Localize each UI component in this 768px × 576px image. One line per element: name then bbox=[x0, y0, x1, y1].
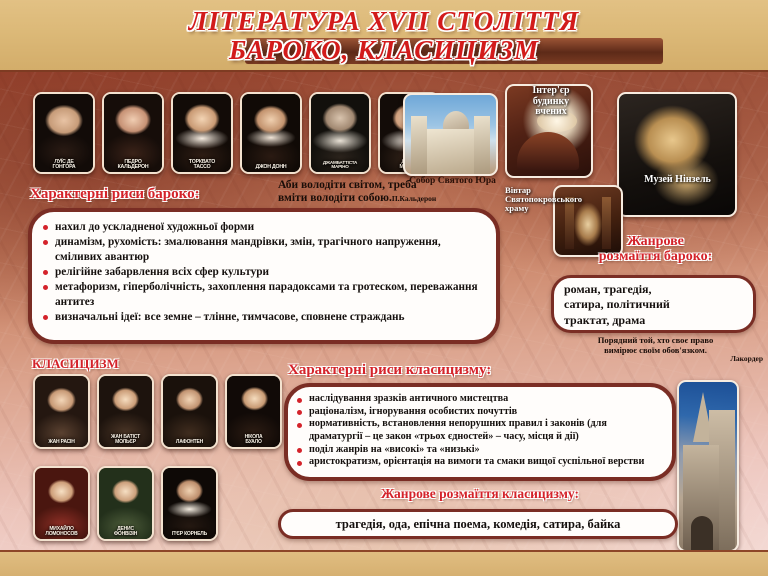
list-item: нормативність, встановлення непорушних п… bbox=[296, 418, 662, 443]
box-classicism-genres: трагедія, ода, епічна поема, комедія, са… bbox=[278, 509, 678, 539]
portrait-denis-fonvizin[interactable]: ДЕНИСФОНВІЗІН bbox=[97, 466, 154, 541]
portrait-label: ДЖАМБАТТІСТАМАРІНО bbox=[311, 161, 369, 170]
cathedral-tower-left bbox=[411, 116, 427, 174]
box-baroque-genres: роман, трагедія, сатира, політичний трак… bbox=[551, 275, 756, 333]
quote-attribution: Лакордер bbox=[548, 355, 763, 363]
list-item: визначальні ідеї: все земне – тлінне, ти… bbox=[42, 310, 484, 325]
classicism-features-list: наслідування зразків античного мистецтва… bbox=[296, 393, 662, 469]
portrait-image bbox=[35, 376, 88, 447]
portrait-label: НІКОЛАБУАЛО bbox=[227, 435, 280, 445]
portrait-lafontaine[interactable]: ЛАФОНТЕН bbox=[161, 374, 218, 449]
list-item: раціоналізм, ігнорування особистих почут… bbox=[296, 406, 662, 419]
portrait-label: П'ЄР КОРНЕЛЬ bbox=[163, 532, 216, 537]
portrait-image bbox=[163, 468, 216, 539]
portrait-jean-racine[interactable]: ЖАН РАСІН bbox=[33, 374, 90, 449]
baroque-features-list: нахил до ускладненої художньої форми дин… bbox=[42, 220, 484, 325]
heading-classicism-features: Характерні риси класицизму: bbox=[288, 362, 491, 378]
photo-cathedral-saint-yura[interactable] bbox=[403, 93, 498, 176]
quote-calderon: Аби володіти світом, треба вміти володіт… bbox=[278, 179, 490, 205]
portrait-label: ТОРКВАТОТАССО bbox=[173, 160, 231, 170]
baroque-genres-line3: трактат, драма bbox=[564, 313, 743, 328]
portrait-label: ЛАФОНТЕН bbox=[163, 440, 216, 445]
portrait-pierre-corneille[interactable]: П'ЄР КОРНЕЛЬ bbox=[161, 466, 218, 541]
portrait-pedro-calderon[interactable]: ПЕДРОКАЛЬДЕРОН bbox=[102, 92, 164, 174]
portrait-luis-de-gongora[interactable]: ЛУЇС ДЕГОНГОРА bbox=[33, 92, 95, 174]
portrait-moliere[interactable]: ЖАН БАТІСТМОЛЬЄР bbox=[97, 374, 154, 449]
portrait-mykhailo-lomonosov[interactable]: МИХАЙЛОЛОМОНОСОВ bbox=[33, 466, 90, 541]
list-item: аристократизм, орієнтація на вимоги та с… bbox=[296, 456, 662, 469]
baroque-genres-line1: роман, трагедія, bbox=[564, 282, 743, 297]
list-item: поділ жанрів на «високі» та «низькі» bbox=[296, 444, 662, 457]
heading-classicism: КЛАСИЦИЗМ bbox=[32, 357, 119, 371]
list-item: релігійне забарвлення всіх сфер культури bbox=[42, 265, 484, 280]
photo-museum-ninzel[interactable] bbox=[617, 92, 737, 217]
cathedral-tower-right bbox=[474, 116, 490, 174]
box-classicism-features: наслідування зразків античного мистецтва… bbox=[284, 383, 676, 481]
portrait-label: ПЕДРОКАЛЬДЕРОН bbox=[104, 160, 162, 170]
heading-classicism-genres: Жанрове розмаїття класицизму: bbox=[284, 487, 676, 502]
photo-gothic-cathedral[interactable] bbox=[677, 380, 739, 552]
portrait-john-donne[interactable]: ДЖОН ДОНН bbox=[240, 92, 302, 174]
portrait-label: ДЕНИСФОНВІЗІН bbox=[99, 527, 152, 537]
list-item: нахил до ускладненої художньої форми bbox=[42, 220, 484, 235]
portrait-label: ЖАН РАСІН bbox=[35, 440, 88, 445]
portrait-image bbox=[242, 94, 300, 172]
poster-bottom-strip bbox=[0, 550, 768, 576]
list-item: динамізм, рухомість: змалювання мандрівк… bbox=[42, 235, 484, 265]
portrait-label: ДЖОН ДОНН bbox=[242, 165, 300, 170]
baroque-genres-line2: сатира, політичний bbox=[564, 297, 743, 312]
portrait-torquato-tasso[interactable]: ТОРКВАТОТАССО bbox=[171, 92, 233, 174]
poster-title-line1: ЛІТЕРАТУРА XVII СТОЛІТТЯ bbox=[0, 6, 768, 37]
heading-baroque-features: Характерні риси бароко: bbox=[30, 186, 200, 202]
poster-title-line2: БАРОКО, КЛАСИЦИЗМ bbox=[0, 35, 768, 66]
portrait-label: ЖАН БАТІСТМОЛЬЄР bbox=[99, 435, 152, 445]
poster-root: ЛІТЕРАТУРА XVII СТОЛІТТЯ БАРОКО, КЛАСИЦИ… bbox=[0, 0, 768, 576]
list-item: наслідування зразків античного мистецтва bbox=[296, 393, 662, 406]
box-baroque-features: нахил до ускладненої художньої форми дин… bbox=[28, 208, 500, 344]
list-item: метафоризм, гіперболічність, захоплення … bbox=[42, 280, 484, 310]
heading-baroque-genres: Жанрове розмаїття бароко: bbox=[548, 234, 763, 264]
classicism-genres-text: трагедія, ода, епічна поема, комедія, са… bbox=[291, 517, 665, 532]
portrait-giambattista-marino[interactable]: ДЖАМБАТТІСТАМАРІНО bbox=[309, 92, 371, 174]
portrait-image bbox=[163, 376, 216, 447]
caption-altar-temple: Вівтар Святопокровського храму bbox=[505, 186, 615, 213]
portrait-nicolas-boileau[interactable]: НІКОЛАБУАЛО bbox=[225, 374, 282, 449]
quote-lacordaire: Порядний той, хто своє право вимірює сво… bbox=[548, 336, 763, 364]
caption-scientists-house: Інтер'єр будинку вчених bbox=[508, 86, 594, 118]
portrait-label: ЛУЇС ДЕГОНГОРА bbox=[35, 160, 93, 170]
gothic-portal bbox=[691, 516, 713, 550]
portrait-label: МИХАЙЛОЛОМОНОСОВ bbox=[35, 527, 88, 537]
poster-header: ЛІТЕРАТУРА XVII СТОЛІТТЯ БАРОКО, КЛАСИЦИ… bbox=[0, 0, 768, 72]
interior-arch bbox=[517, 132, 579, 170]
caption-museum-ninzel: Музей Нінзель bbox=[610, 175, 745, 186]
